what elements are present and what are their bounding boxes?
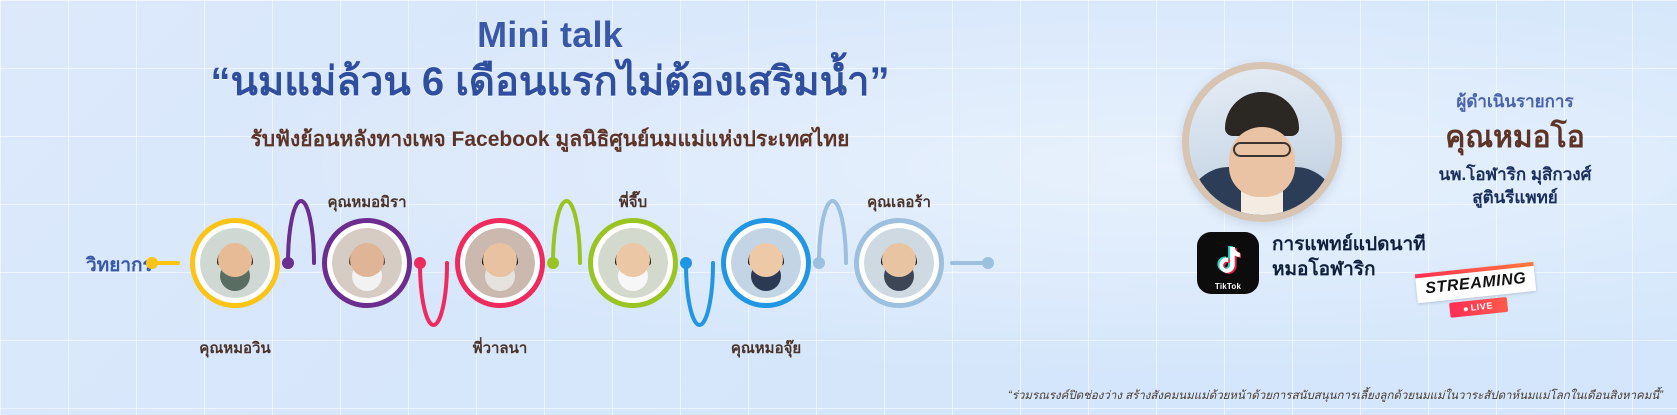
- host-panel: ผู้ดำเนินรายการ คุณหมอโอ นพ.โอฬาริก มุสิ…: [1117, 0, 1677, 415]
- host-name: คุณหมอโอ: [1365, 121, 1665, 154]
- speaker-avatar[interactable]: [455, 218, 545, 308]
- host-text-block: ผู้ดำเนินรายการ คุณหมอโอ นพ.โอฬาริก มุสิ…: [1365, 88, 1665, 210]
- speakers-section: วิทยากร คุณหมอวิน คุณหมอมิรา พี่วาลนา พี…: [0, 180, 1060, 350]
- speaker-avatar[interactable]: [721, 218, 811, 308]
- page-title: Mini talk: [0, 14, 1100, 55]
- speaker-name-label: พี่จี๊บ: [543, 190, 723, 214]
- glasses-icon: [1233, 142, 1291, 157]
- host-channel-line1: การแพทย์แปดนาที: [1272, 232, 1426, 257]
- speaker-avatar[interactable]: [322, 218, 412, 308]
- host-specialty: สูตินรีแพทย์: [1365, 187, 1665, 210]
- streaming-badge: STREAMING LIVE: [1415, 262, 1539, 321]
- host-channel: การแพทย์แปดนาที หมอโอฬาริก: [1272, 232, 1426, 282]
- host-channel-line2: หมอโอฬาริก: [1272, 257, 1426, 282]
- speaker-name-label: พี่วาลนา: [410, 336, 590, 360]
- headline-quote: “นมแม่ล้วน 6 เดือนแรกไม่ต้องเสริมน้ำ”: [0, 57, 1100, 108]
- speaker-name-label: คุณหมอมิรา: [277, 190, 457, 214]
- headline-subline: รับฟังย้อนหลังทางเพจ Facebook มูลนิธิศูน…: [0, 123, 1100, 156]
- speaker-avatar[interactable]: [588, 218, 678, 308]
- speaker-name-label: คุณเลอร้า: [809, 190, 989, 214]
- footer-note: “ร่วมรณรงค์ปิดช่องว่าง สร้างสังคมนมแม่ด้…: [1008, 387, 1663, 405]
- speaker-avatar[interactable]: [190, 218, 280, 308]
- headline-block: Mini talk “นมแม่ล้วน 6 เดือนแรกไม่ต้องเส…: [0, 14, 1100, 156]
- host-role: ผู้ดำเนินรายการ: [1365, 88, 1665, 115]
- host-fullname: นพ.โอฬาริก มุสิกวงศ์: [1365, 164, 1665, 187]
- host-avatar: [1182, 62, 1342, 222]
- mini-talk-banner: Mini talk “นมแม่ล้วน 6 เดือนแรกไม่ต้องเส…: [0, 0, 1677, 415]
- streaming-label: STREAMING: [1415, 262, 1537, 303]
- speaker-name-label: คุณหมอวิน: [145, 336, 325, 360]
- tiktok-icon[interactable]: TikTok: [1197, 232, 1259, 294]
- tiktok-label: TikTok: [1197, 282, 1259, 291]
- speaker-name-label: คุณหมอจุ๊ย: [676, 336, 856, 360]
- live-badge: LIVE: [1449, 297, 1508, 318]
- speaker-avatar[interactable]: [854, 218, 944, 308]
- live-label: LIVE: [1470, 300, 1493, 312]
